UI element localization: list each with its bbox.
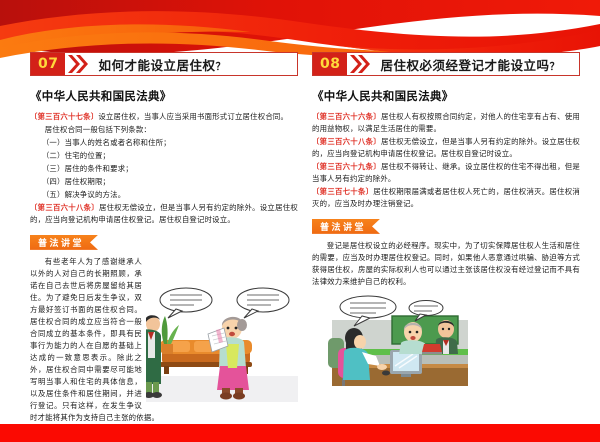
section-title-qmark: ？ [550, 62, 561, 73]
article-text: （三）居住的条件和要求； [42, 164, 133, 173]
section-header-08: 08 居住权必须经登记才能设立吗？ [312, 52, 580, 76]
chevron-right-icon [65, 53, 93, 75]
lecture-ribbon-wrap: 普法讲堂 [312, 219, 580, 234]
elderly-woman-and-lawyer-illustration [146, 284, 298, 402]
top-banner [0, 0, 600, 60]
section-number-badge: 07 [31, 53, 65, 75]
article-number: 〔第三百六十九条〕 [312, 162, 381, 171]
article-paragraph: （五）解决争议的方法。 [30, 189, 298, 201]
section-header-07: 07 如何才能设立居住权？ [30, 52, 298, 76]
article-text: （一）当事人的姓名或者名称和住所； [42, 138, 171, 147]
article-text: 居住权合同一般包括下列条款： [45, 125, 151, 134]
article-paragraph: （四）居住权期限； [30, 176, 298, 188]
lecture-text: 登记是居住权设立的必经程序。现实中，为了切实保障居住权人生活和居住的需要，应当及… [312, 240, 580, 288]
lecture-ribbon-label: 普法讲堂 [312, 219, 380, 234]
lecture-ribbon-wrap: 普法讲堂 [30, 235, 298, 250]
column-right: 08 居住权必须经登记才能设立吗？ 《中华人民共和国民法典》 〔第三百六十六条〕… [312, 52, 580, 390]
article-text: 设立居住权，当事人应当采用书面形式订立居住权合同。 [98, 112, 288, 121]
column-left: 07 如何才能设立居住权？ 《中华人民共和国民法典》 〔第三百六十七条〕设立居住… [30, 52, 298, 425]
article-paragraph: 居住权合同一般包括下列条款： [30, 124, 298, 136]
content-area: 07 如何才能设立居住权？ 《中华人民共和国民法典》 〔第三百六十七条〕设立居住… [0, 52, 600, 424]
registration-office-illustration [318, 294, 474, 390]
section-title: 居住权必须经登记才能设立吗？ [380, 55, 560, 74]
article-paragraph: （一）当事人的姓名或者名称和住所； [30, 137, 298, 149]
articles-list-07: 〔第三百六十七条〕设立居住权，当事人应当采用书面形式订立居住权合同。 居住权合同… [30, 111, 298, 226]
lecture-block-07: 有些老年人为了感谢继承人以外的人对自己的长期照顾，承诺在自己去世后将房屋留给其居… [30, 256, 298, 424]
section-title-text: 居住权必须经登记才能设立吗 [380, 58, 549, 73]
footer-red-bar [0, 424, 600, 442]
section-title: 如何才能设立居住权？ [98, 55, 226, 74]
section-title-text: 如何才能设立居住权 [98, 58, 215, 73]
banner-wave-graphic [0, 0, 600, 60]
illustration-08 [318, 294, 580, 390]
article-paragraph: 〔第三百六十六条〕居住权人有权按照合同约定，对他人的住宅享有占有、使用的用益物权… [312, 111, 580, 135]
law-title: 《中华人民共和国民法典》 [312, 88, 580, 104]
section-number-badge: 08 [313, 53, 347, 75]
law-title: 《中华人民共和国民法典》 [30, 88, 298, 104]
article-paragraph: 〔第三百六十七条〕设立居住权，当事人应当采用书面形式订立居住权合同。 [30, 111, 298, 123]
article-number: 〔第三百六十六条〕 [312, 112, 381, 121]
articles-list-08: 〔第三百六十六条〕居住权人有权按照合同约定，对他人的住宅享有占有、使用的用益物权… [312, 111, 580, 210]
chevron-right-icon [347, 53, 375, 75]
article-paragraph: 〔第三百六十九条〕居住权不得转让、继承。设立居住权的住宅不得出租，但是当事人另有… [312, 161, 580, 185]
article-text: （四）居住权期限； [42, 177, 110, 186]
article-paragraph: （二）住宅的位置； [30, 150, 298, 162]
article-text: （五）解决争议的方法。 [42, 190, 126, 199]
lecture-ribbon-label: 普法讲堂 [30, 235, 98, 250]
article-paragraph: 〔第三百六十八条〕居住权无偿设立，但是当事人另有约定的除外。设立居住权的，应当向… [312, 136, 580, 160]
lecture-block-08: 登记是居住权设立的必经程序。现实中，为了切实保障居住权人生活和居住的需要，应当及… [312, 240, 580, 288]
article-text: （二）住宅的位置； [42, 151, 110, 160]
article-number: 〔第三百六十八条〕 [312, 137, 381, 146]
article-number: 〔第三百七十条〕 [312, 187, 373, 196]
article-paragraph: 〔第三百六十八条〕居住权无偿设立，但是当事人另有约定的除外。设立居住权的，应当向… [30, 202, 298, 226]
article-number: 〔第三百六十八条〕 [30, 203, 99, 212]
illustration-07-float [146, 284, 298, 402]
section-title-qmark: ？ [216, 62, 227, 73]
article-number: 〔第三百六十七条〕 [30, 112, 98, 121]
article-paragraph: （三）居住的条件和要求； [30, 163, 298, 175]
article-paragraph: 〔第三百七十条〕居住权期限届满或者居住权人死亡的，居住权消灭。居住权消灭的，应当… [312, 186, 580, 210]
